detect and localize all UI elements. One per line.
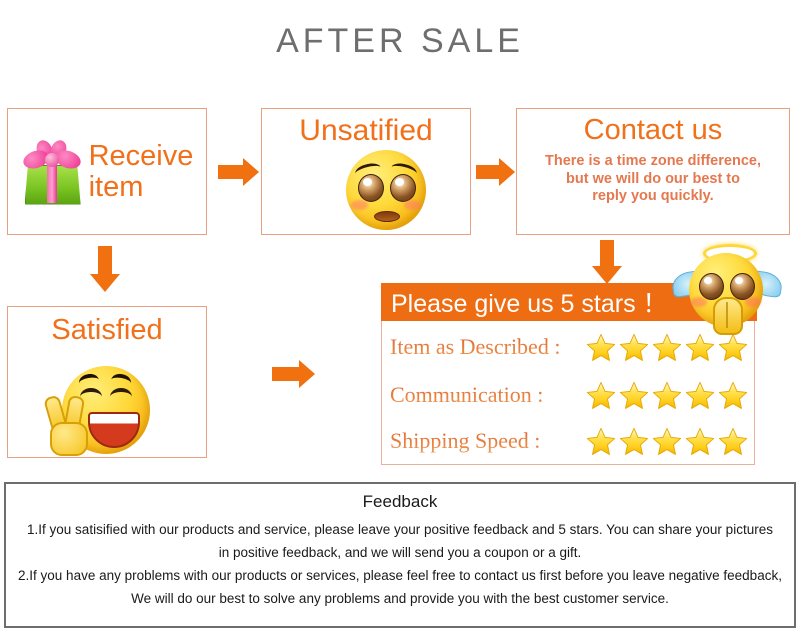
feedback-line: in positive feedback, and we will send y… — [16, 545, 784, 560]
page-title: AFTER SALE — [0, 22, 800, 61]
gift-box-icon — [21, 139, 83, 205]
star-icon — [652, 427, 682, 456]
star-icon — [586, 427, 616, 456]
satisfied-label: Satisfied — [8, 315, 206, 345]
arrow-right-icon-receive-to-unsatified — [218, 158, 262, 186]
rating-row: Communication : — [390, 372, 748, 418]
pleading-face-icon — [346, 150, 426, 230]
star-icon — [652, 333, 682, 362]
star-rating-item-as-described[interactable] — [586, 333, 748, 362]
feedback-box: Feedback 1.If you satisified with our pr… — [4, 482, 796, 628]
rating-label-shipping-speed: Shipping Speed : — [390, 428, 586, 454]
rating-label-communication: Communication : — [390, 382, 586, 408]
flow-box-receive-item: Receive item — [7, 108, 207, 235]
star-icon — [685, 333, 715, 362]
rating-label-item-as-described: Item as Described : — [390, 334, 586, 360]
rating-row: Shipping Speed : — [390, 418, 748, 464]
star-icon — [619, 381, 649, 410]
feedback-line: We will do our best to solve any problem… — [16, 591, 784, 606]
receive-item-content: Receive item — [8, 109, 206, 234]
star-icon — [718, 381, 748, 410]
contact-us-label: Contact us — [517, 115, 789, 145]
feedback-line: 1.If you satisified with our products an… — [16, 522, 784, 537]
star-icon — [718, 333, 748, 362]
feedback-title: Feedback — [6, 492, 794, 512]
star-icon — [619, 333, 649, 362]
praying-angel-face-icon — [670, 244, 782, 336]
star-icon — [586, 381, 616, 410]
arrow-right-icon-unsatified-to-contact — [476, 158, 518, 186]
star-icon — [652, 381, 682, 410]
star-icon — [685, 427, 715, 456]
star-rating-communication[interactable] — [586, 381, 748, 410]
star-icon — [619, 427, 649, 456]
star-icon — [586, 333, 616, 362]
feedback-line: 2.If you have any problems with our prod… — [16, 568, 784, 583]
star-icon — [685, 381, 715, 410]
arrow-right-icon-satisfied-to-ratings — [272, 360, 320, 388]
ratings-header-text: Please give us 5 stars ！ — [391, 284, 668, 320]
star-icon — [718, 427, 748, 456]
peace-sign-hand-icon — [44, 396, 90, 454]
arrow-down-icon-contact-to-ratings — [592, 240, 622, 288]
star-rating-shipping-speed[interactable] — [586, 427, 748, 456]
contact-us-subtext: There is a time zone difference, but we … — [523, 153, 783, 206]
flow-box-contact-us: Contact us There is a time zone differen… — [516, 108, 790, 235]
receive-item-label: Receive item — [89, 141, 194, 202]
arrow-down-icon-receive-to-satisfied — [90, 246, 120, 298]
unsatified-label: Unsatified — [262, 115, 470, 147]
